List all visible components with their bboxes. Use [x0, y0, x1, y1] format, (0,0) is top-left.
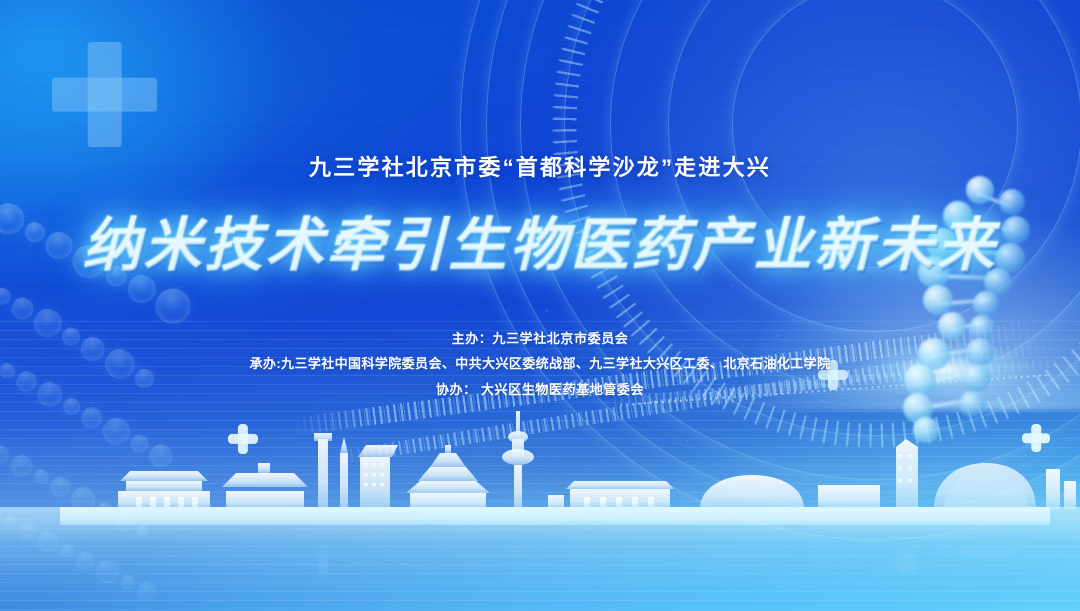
poster-title: 纳米技术牵引生物医药产业新未来 — [0, 198, 1080, 282]
beijing-skyline-icon — [0, 395, 1080, 525]
poster-canvas: 九三学社北京市委“首都科学沙龙”走进大兴 纳米技术牵引生物医药产业新未来 主办：… — [0, 0, 1080, 611]
credit-host: 主办：九三学社北京市委员会 — [0, 326, 1080, 351]
poster-subtitle: 九三学社北京市委“首都科学沙龙”走进大兴 — [0, 150, 1080, 182]
credit-co-organizer: 协办： 大兴区生物医药基地管委会 — [0, 377, 1080, 402]
poster-text-block: 九三学社北京市委“首都科学沙龙”走进大兴 纳米技术牵引生物医药产业新未来 主办：… — [0, 0, 1080, 402]
credit-organizer: 承办:九三学社中国科学院委员会、中共大兴区委统战部、九三学社大兴区工委、北京石油… — [0, 351, 1080, 376]
water-reflection — [0, 507, 1080, 611]
poster-credits: 主办：九三学社北京市委员会 承办:九三学社中国科学院委员会、中共大兴区委统战部、… — [0, 326, 1080, 402]
